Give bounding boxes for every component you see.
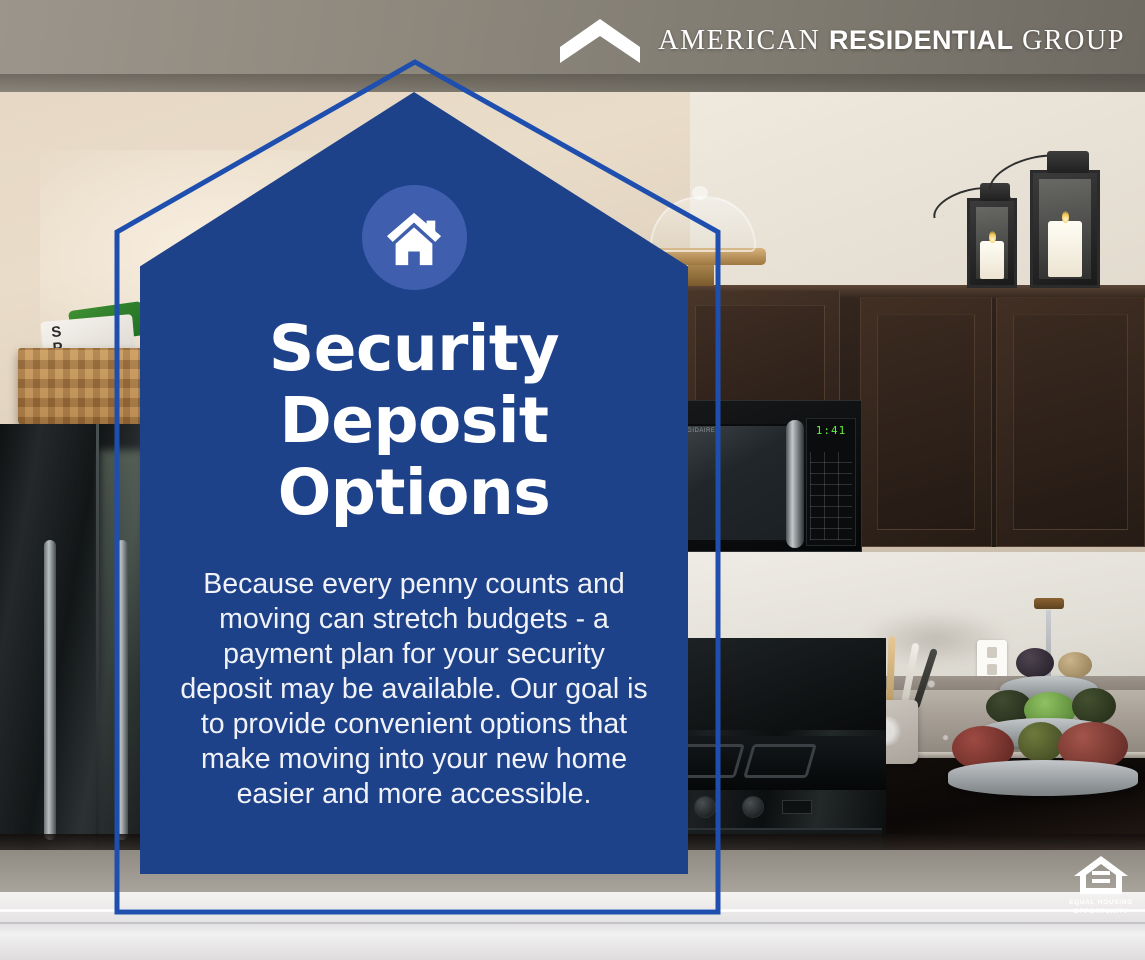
chevron-roof-icon <box>558 17 642 65</box>
home-icon-badge <box>362 185 467 290</box>
equal-housing-opportunity-icon <box>1072 853 1130 897</box>
eho-line-1: EQUAL HOUSING <box>1067 899 1135 908</box>
title-line-2: Deposit <box>140 385 688 457</box>
equal-housing-opportunity-logo: EQUAL HOUSING OPPORTUNITY <box>1067 853 1135 916</box>
brand-name: AMERICAN RESIDENTIAL GROUP <box>658 25 1125 57</box>
brand-logo: AMERICAN RESIDENTIAL GROUP <box>558 17 1125 65</box>
promo-graphic: FRIGIDAIRE 1:41 <box>0 0 1145 960</box>
panel-content: Security Deposit Options Because every p… <box>140 92 688 874</box>
title-line-3: Options <box>140 457 688 529</box>
brand-name-group: GROUP <box>1022 25 1125 56</box>
page-title: Security Deposit Options <box>140 313 688 529</box>
brand-name-american: AMERICAN <box>658 25 820 56</box>
eho-label: EQUAL HOUSING OPPORTUNITY <box>1067 899 1135 916</box>
body-paragraph: Because every penny counts and moving ca… <box>174 567 654 812</box>
eho-line-2: OPPORTUNITY <box>1067 908 1135 917</box>
brand-name-residential: RESIDENTIAL <box>829 25 1013 55</box>
title-line-1: Security <box>140 313 688 385</box>
home-icon <box>383 209 445 267</box>
